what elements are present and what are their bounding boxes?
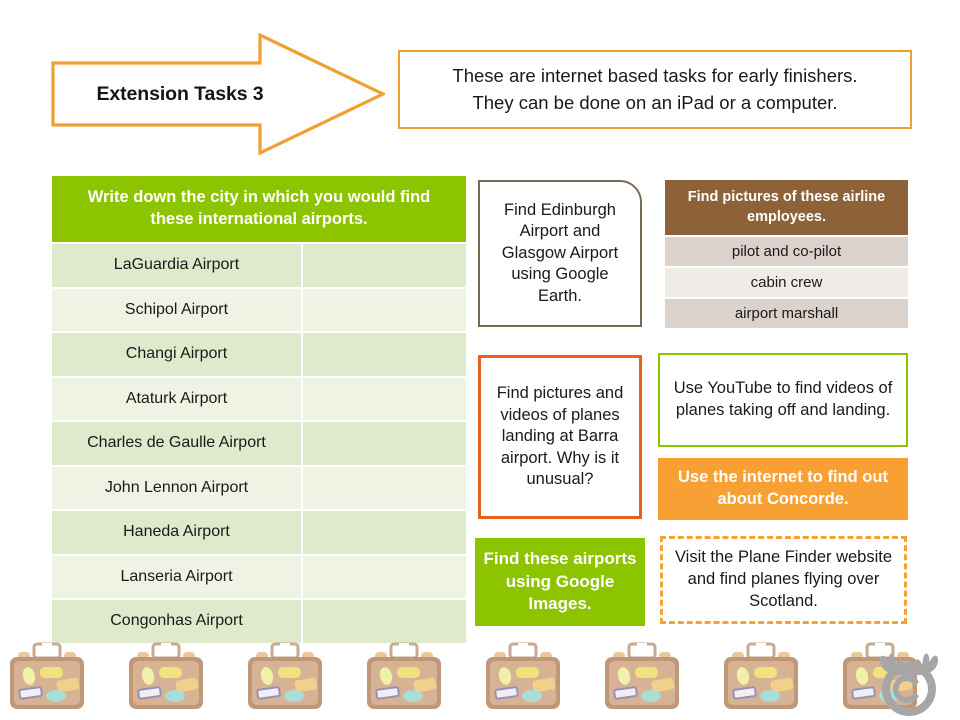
intro-line-1: These are internet based tasks for early…: [452, 63, 857, 89]
list-item: airport marshall: [665, 299, 908, 328]
concorde-task-box: Use the internet to find out about Conco…: [658, 458, 908, 520]
airport-name-cell: Schipol Airport: [52, 289, 301, 332]
list-item: cabin crew: [665, 268, 908, 297]
table-row: Schipol Airport: [52, 289, 466, 332]
table-row: Changi Airport: [52, 333, 466, 376]
suitcase-icon: [361, 640, 447, 716]
arrow-title: Extension Tasks 3: [51, 63, 309, 125]
airport-answer-cell[interactable]: [303, 289, 466, 332]
airport-table-header: Write down the city in which you would f…: [52, 176, 466, 242]
slide-canvas: Extension Tasks 3 These are internet bas…: [0, 0, 960, 720]
table-row: John Lennon Airport: [52, 467, 466, 510]
list-item: pilot and co-pilot: [665, 237, 908, 266]
airport-name-cell: Haneda Airport: [52, 511, 301, 554]
suitcase-icon: [123, 640, 209, 716]
suitcase-icon: [242, 640, 328, 716]
suitcase-icon: [4, 640, 90, 716]
table-row: Lanseria Airport: [52, 556, 466, 599]
barra-task-text: Find pictures and videos of planes landi…: [487, 383, 633, 490]
airport-answer-cell[interactable]: [303, 333, 466, 376]
copyright-moose-icon: [868, 637, 950, 717]
google-images-task-box: Find these airports using Google Images.: [475, 538, 645, 626]
edinburgh-task-text: Find Edinburgh Airport and Glasgow Airpo…: [488, 200, 632, 307]
suitcase-icon: [480, 640, 566, 716]
intro-description-box: These are internet based tasks for early…: [398, 50, 912, 129]
google-images-task-text: Find these airports using Google Images.: [481, 548, 639, 616]
airport-answer-cell[interactable]: [303, 422, 466, 465]
airport-name-cell: Ataturk Airport: [52, 378, 301, 421]
suitcase-icon: [599, 640, 685, 716]
intro-line-2: They can be done on an iPad or a compute…: [472, 90, 837, 116]
airline-employee-table: Find pictures of these airline employees…: [665, 180, 908, 328]
airport-answer-cell[interactable]: [303, 600, 466, 643]
table-row: Ataturk Airport: [52, 378, 466, 421]
table-row: Charles de Gaulle Airport: [52, 422, 466, 465]
youtube-task-box: Use YouTube to find videos of planes tak…: [658, 353, 908, 447]
youtube-task-text: Use YouTube to find videos of planes tak…: [666, 378, 900, 422]
airport-answer-cell[interactable]: [303, 467, 466, 510]
airport-answer-cell[interactable]: [303, 244, 466, 287]
suitcase-decoration-strip: [0, 640, 960, 720]
airport-name-cell: LaGuardia Airport: [52, 244, 301, 287]
airport-name-cell: Changi Airport: [52, 333, 301, 376]
table-row: Congonhas Airport: [52, 600, 466, 643]
table-row: LaGuardia Airport: [52, 244, 466, 287]
suitcase-icon: [718, 640, 804, 716]
airport-name-cell: Lanseria Airport: [52, 556, 301, 599]
table-row: Haneda Airport: [52, 511, 466, 554]
airport-name-cell: Charles de Gaulle Airport: [52, 422, 301, 465]
airport-answer-cell[interactable]: [303, 511, 466, 554]
employee-table-header: Find pictures of these airline employees…: [665, 180, 908, 235]
barra-airport-task-box: Find pictures and videos of planes landi…: [478, 355, 642, 519]
airport-name-cell: Congonhas Airport: [52, 600, 301, 643]
airport-city-table: Write down the city in which you would f…: [52, 176, 466, 643]
airport-name-cell: John Lennon Airport: [52, 467, 301, 510]
airport-answer-cell[interactable]: [303, 378, 466, 421]
concorde-task-text: Use the internet to find out about Conco…: [664, 467, 902, 511]
plane-finder-task-text: Visit the Plane Finder website and find …: [671, 547, 896, 612]
plane-finder-task-box: Visit the Plane Finder website and find …: [660, 536, 907, 624]
edinburgh-glasgow-task-box: Find Edinburgh Airport and Glasgow Airpo…: [478, 180, 642, 327]
airport-answer-cell[interactable]: [303, 556, 466, 599]
extension-tasks-arrow: Extension Tasks 3: [51, 33, 385, 155]
